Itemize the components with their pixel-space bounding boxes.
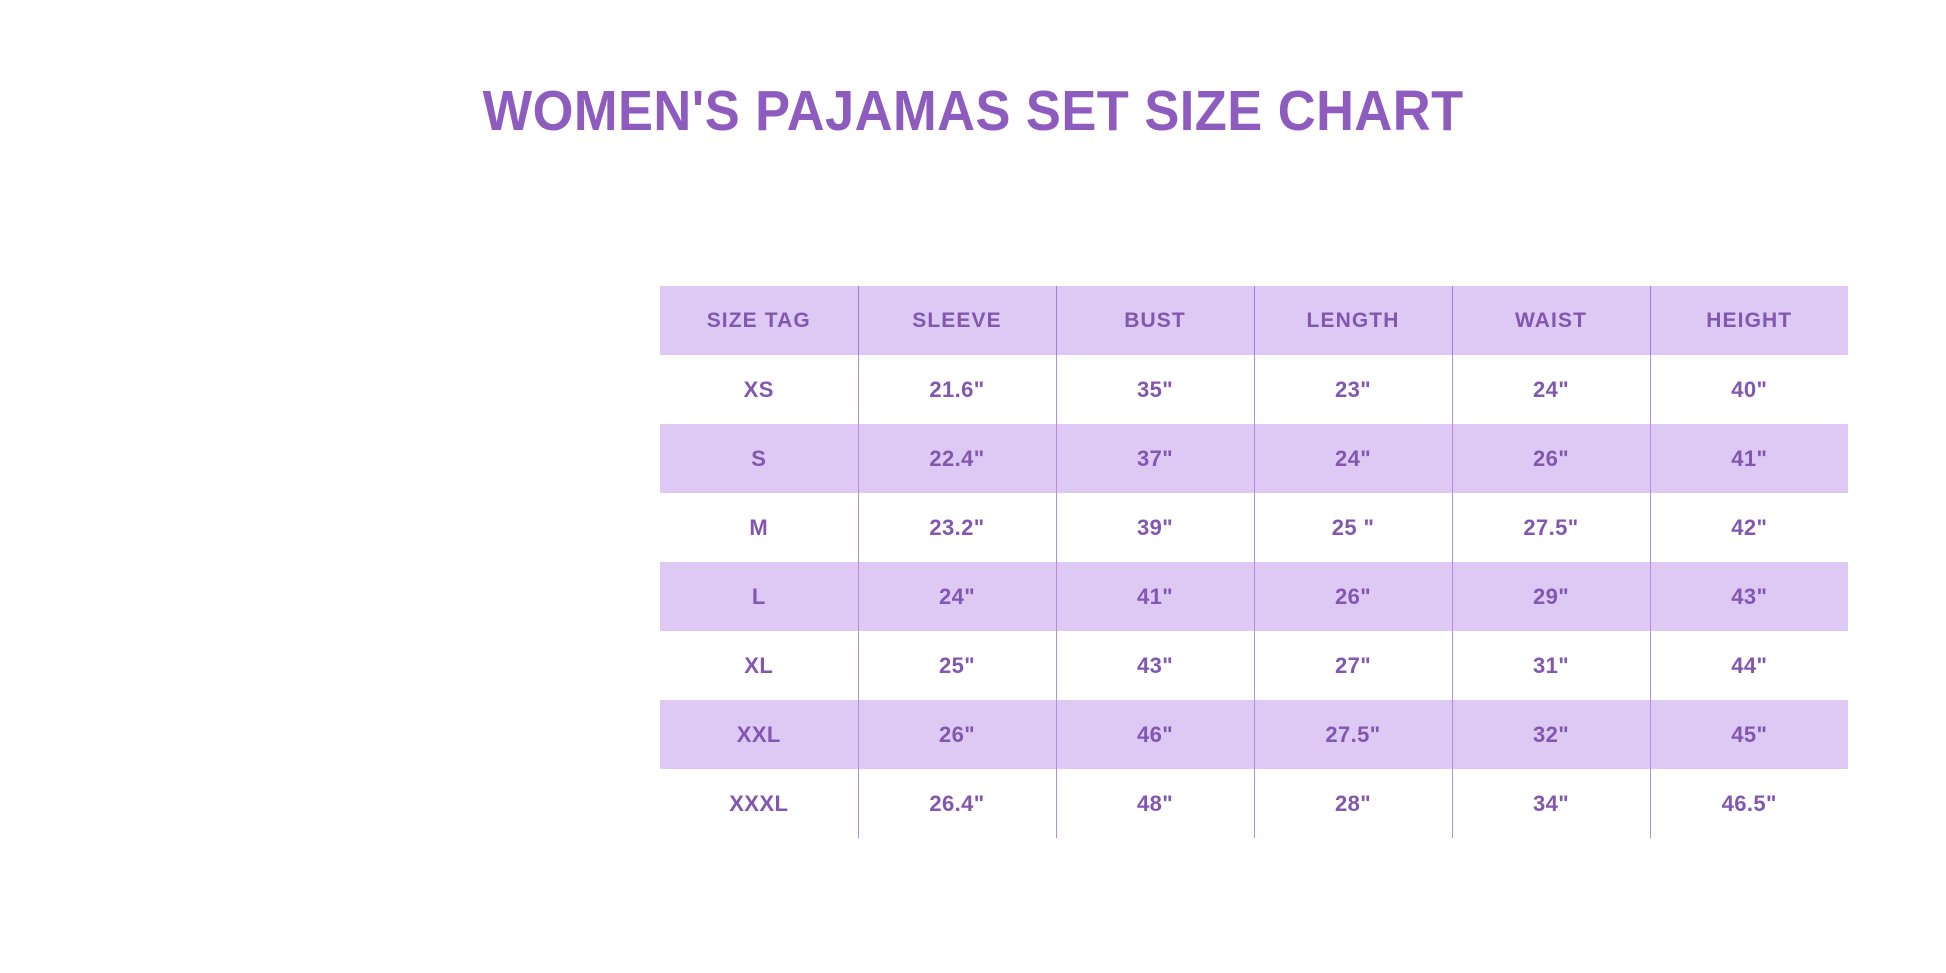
cell-length: 25 " bbox=[1254, 493, 1452, 562]
cell-sleeve: 24" bbox=[858, 562, 1056, 631]
cell-bust: 43" bbox=[1056, 631, 1254, 700]
column-header-size-tag: SIZE TAG bbox=[660, 286, 858, 355]
cell-bust: 39" bbox=[1056, 493, 1254, 562]
cell-height: 40" bbox=[1650, 355, 1848, 424]
cell-waist: 31" bbox=[1452, 631, 1650, 700]
page-title-container: WOMEN'S PAJAMAS SET SIZE CHART bbox=[0, 82, 1946, 142]
cell-height: 42" bbox=[1650, 493, 1848, 562]
cell-waist: 32" bbox=[1452, 700, 1650, 769]
cell-sleeve: 26" bbox=[858, 700, 1056, 769]
cell-bust: 46" bbox=[1056, 700, 1254, 769]
table-body: XS 21.6" 35" 23" 24" 40" S 22.4" 37" 24"… bbox=[660, 355, 1848, 838]
table-row: M 23.2" 39" 25 " 27.5" 42" bbox=[660, 493, 1848, 562]
cell-sleeve: 21.6" bbox=[858, 355, 1056, 424]
cell-length: 28" bbox=[1254, 769, 1452, 838]
size-chart-page: WOMEN'S PAJAMAS SET SIZE CHART SIZE TAG … bbox=[0, 0, 1946, 973]
cell-size-tag: L bbox=[660, 562, 858, 631]
column-header-sleeve: SLEEVE bbox=[858, 286, 1056, 355]
cell-size-tag: XXXL bbox=[660, 769, 858, 838]
cell-length: 27" bbox=[1254, 631, 1452, 700]
cell-height: 44" bbox=[1650, 631, 1848, 700]
table-row: S 22.4" 37" 24" 26" 41" bbox=[660, 424, 1848, 493]
cell-height: 46.5" bbox=[1650, 769, 1848, 838]
cell-sleeve: 23.2" bbox=[858, 493, 1056, 562]
cell-length: 23" bbox=[1254, 355, 1452, 424]
cell-waist: 24" bbox=[1452, 355, 1650, 424]
cell-height: 41" bbox=[1650, 424, 1848, 493]
column-header-waist: WAIST bbox=[1452, 286, 1650, 355]
cell-waist: 29" bbox=[1452, 562, 1650, 631]
table-row: XXL 26" 46" 27.5" 32" 45" bbox=[660, 700, 1848, 769]
cell-size-tag: XL bbox=[660, 631, 858, 700]
cell-height: 43" bbox=[1650, 562, 1848, 631]
column-header-bust: BUST bbox=[1056, 286, 1254, 355]
column-header-length: LENGTH bbox=[1254, 286, 1452, 355]
cell-bust: 41" bbox=[1056, 562, 1254, 631]
cell-length: 27.5" bbox=[1254, 700, 1452, 769]
cell-waist: 34" bbox=[1452, 769, 1650, 838]
table-header: SIZE TAG SLEEVE BUST LENGTH WAIST HEIGHT bbox=[660, 286, 1848, 355]
cell-sleeve: 25" bbox=[858, 631, 1056, 700]
cell-size-tag: M bbox=[660, 493, 858, 562]
cell-sleeve: 22.4" bbox=[858, 424, 1056, 493]
cell-size-tag: S bbox=[660, 424, 858, 493]
cell-waist: 27.5" bbox=[1452, 493, 1650, 562]
table-row: XS 21.6" 35" 23" 24" 40" bbox=[660, 355, 1848, 424]
size-chart-table-container: SIZE TAG SLEEVE BUST LENGTH WAIST HEIGHT… bbox=[660, 286, 1848, 838]
table-row: L 24" 41" 26" 29" 43" bbox=[660, 562, 1848, 631]
cell-bust: 48" bbox=[1056, 769, 1254, 838]
cell-size-tag: XXL bbox=[660, 700, 858, 769]
cell-height: 45" bbox=[1650, 700, 1848, 769]
size-chart-table: SIZE TAG SLEEVE BUST LENGTH WAIST HEIGHT… bbox=[660, 286, 1848, 838]
cell-size-tag: XS bbox=[660, 355, 858, 424]
cell-sleeve: 26.4" bbox=[858, 769, 1056, 838]
table-row: XXXL 26.4" 48" 28" 34" 46.5" bbox=[660, 769, 1848, 838]
cell-length: 26" bbox=[1254, 562, 1452, 631]
cell-bust: 37" bbox=[1056, 424, 1254, 493]
table-header-row: SIZE TAG SLEEVE BUST LENGTH WAIST HEIGHT bbox=[660, 286, 1848, 355]
table-row: XL 25" 43" 27" 31" 44" bbox=[660, 631, 1848, 700]
cell-bust: 35" bbox=[1056, 355, 1254, 424]
cell-length: 24" bbox=[1254, 424, 1452, 493]
cell-waist: 26" bbox=[1452, 424, 1650, 493]
column-header-height: HEIGHT bbox=[1650, 286, 1848, 355]
page-title: WOMEN'S PAJAMAS SET SIZE CHART bbox=[483, 82, 1464, 142]
